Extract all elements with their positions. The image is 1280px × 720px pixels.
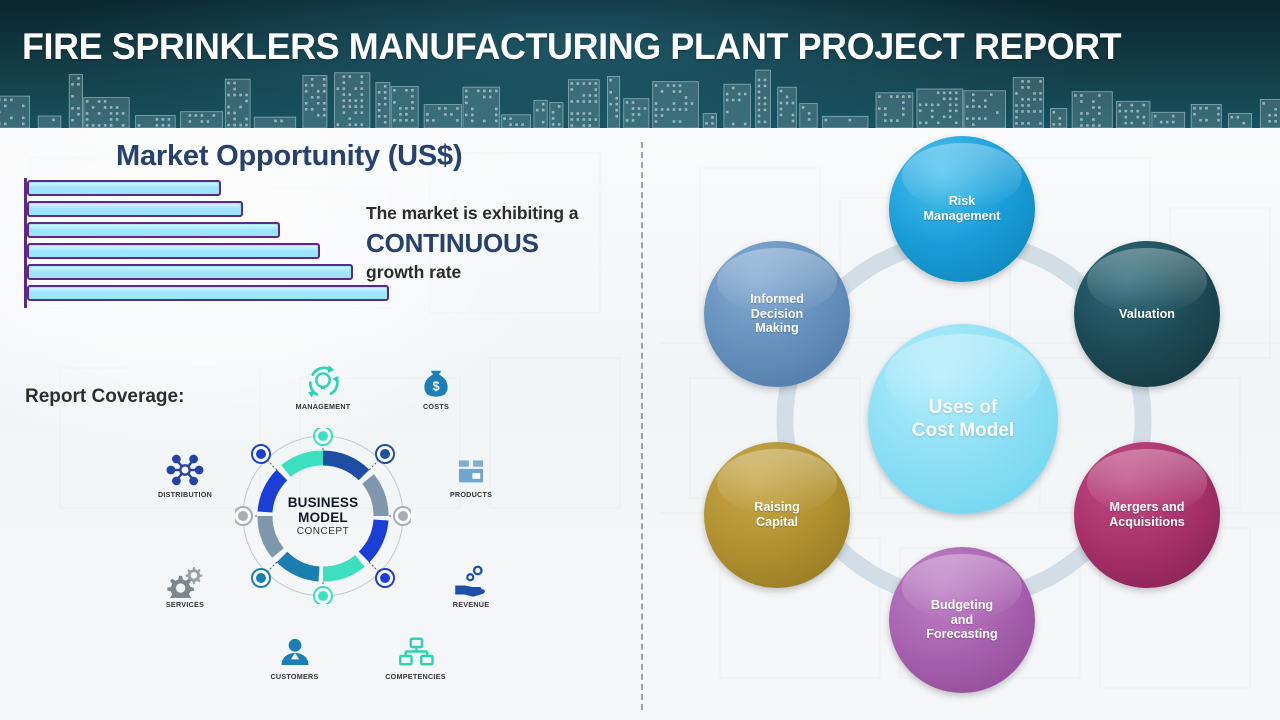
node-center-uses-of-cost-model[interactable]: Uses ofCost Model <box>868 324 1058 514</box>
growth-line-3: growth rate <box>366 262 636 283</box>
node-label: Uses ofCost Model <box>900 396 1026 442</box>
coverage-item-costs: $ COSTS <box>341 362 531 411</box>
coverage-item-distribution: DISTRIBUTION <box>110 450 260 499</box>
coverage-item-services: SERVICES <box>110 560 260 609</box>
coverage-label: SERVICES <box>110 600 260 609</box>
coverage-label: COSTS <box>341 402 531 411</box>
coverage-item-products: PRODUCTS <box>396 450 546 499</box>
bar-item <box>27 222 280 238</box>
city-skyline-graphic <box>0 66 1280 128</box>
growth-statement: The market is exhibiting a CONTINUOUS gr… <box>366 203 636 283</box>
slide-body: Market Opportunity (US$) The market is e… <box>0 128 1280 720</box>
bar-item <box>27 201 243 217</box>
node-risk-management[interactable]: RiskManagement <box>889 136 1035 282</box>
growth-line-1: The market is exhibiting a <box>366 203 636 224</box>
business-model-ring <box>235 428 411 604</box>
network-nodes-icon <box>110 450 260 488</box>
node-label: InformedDecisionMaking <box>738 292 816 336</box>
gears-icon <box>110 560 260 598</box>
svg-text:$: $ <box>432 378 439 393</box>
coverage-item-revenue: REVENUE <box>396 560 546 609</box>
panel-divider <box>641 142 643 710</box>
hand-coins-icon <box>396 560 546 598</box>
coverage-label: REVENUE <box>396 600 546 609</box>
coverage-label: PRODUCTS <box>396 490 546 499</box>
uses-of-cost-model-diagram: RiskManagement Valuation Mergers andAcqu… <box>641 128 1280 720</box>
coverage-label: DISTRIBUTION <box>110 490 260 499</box>
box-icon <box>396 450 546 488</box>
bar-item <box>27 180 221 196</box>
node-label: RaisingCapital <box>742 500 812 529</box>
market-opportunity-bar-chart <box>24 178 404 308</box>
growth-line-2: CONTINUOUS <box>366 228 636 259</box>
business-model-diagram: BUSINESS MODEL CONCEPT MANAGEMENT <box>128 370 518 720</box>
bar-item <box>27 285 389 301</box>
money-bag-icon: $ <box>341 362 531 400</box>
node-raising-capital[interactable]: RaisingCapital <box>704 442 850 588</box>
node-label: Mergers andAcquisitions <box>1097 500 1197 529</box>
node-budgeting-forecasting[interactable]: BudgetingandForecasting <box>889 547 1035 693</box>
coverage-item-customers: CUSTOMERS <box>202 632 387 681</box>
node-informed-decision-making[interactable]: InformedDecisionMaking <box>704 241 850 387</box>
bar-item <box>27 264 353 280</box>
node-label: RiskManagement <box>912 194 1013 223</box>
node-label: Valuation <box>1107 307 1187 322</box>
market-opportunity-title: Market Opportunity (US$) <box>116 140 462 173</box>
node-valuation[interactable]: Valuation <box>1074 241 1220 387</box>
coverage-label: CUSTOMERS <box>202 672 387 681</box>
page-title: FIRE SPRINKLERS MANUFACTURING PLANT PROJ… <box>22 26 1121 68</box>
page-header: FIRE SPRINKLERS MANUFACTURING PLANT PROJ… <box>0 0 1280 128</box>
bar-item <box>27 243 320 259</box>
node-label: BudgetingandForecasting <box>914 598 1009 642</box>
user-icon <box>202 632 387 670</box>
node-gloss <box>1087 248 1207 314</box>
node-mergers-acquisitions[interactable]: Mergers andAcquisitions <box>1074 442 1220 588</box>
